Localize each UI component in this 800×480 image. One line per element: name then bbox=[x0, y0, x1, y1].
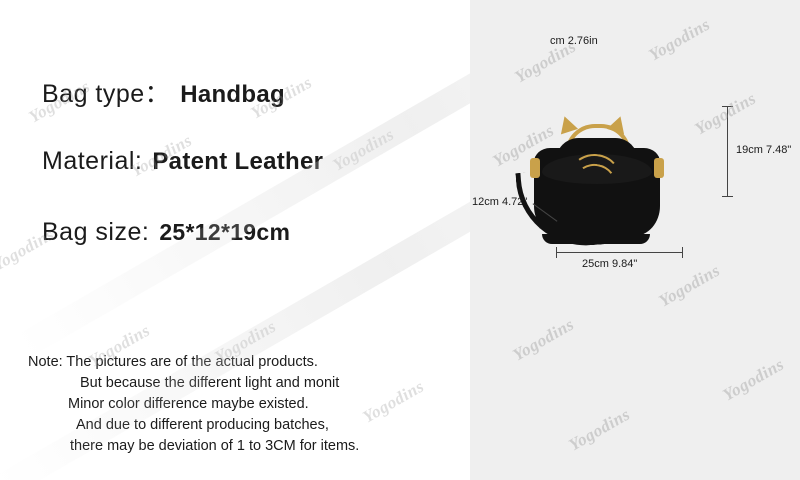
disclaimer-note: Note: The pictures are of the actual pro… bbox=[28, 352, 448, 457]
note-line-3: Minor color difference maybe existed. bbox=[28, 394, 448, 415]
dimension-width-tick-right bbox=[682, 247, 683, 258]
watermark: Yogodins bbox=[510, 315, 578, 366]
watermark: Yogodins bbox=[566, 405, 634, 456]
dimension-depth-label: 12cm 4.72" bbox=[472, 196, 527, 208]
watermark: Yogodins bbox=[720, 355, 788, 406]
dimension-top-label: cm 2.76in bbox=[550, 35, 598, 47]
side-hardware-right bbox=[654, 158, 664, 178]
spec-panel: Bag type：Handbag Material:Patent Leather… bbox=[0, 0, 470, 480]
side-hardware-left bbox=[530, 158, 540, 178]
watermark: Yogodins bbox=[656, 261, 724, 312]
dimension-width-label: 25cm 9.84" bbox=[582, 258, 637, 270]
spec-label-material: Material: bbox=[42, 147, 142, 175]
note-line-5: there may be deviation of 1 to 3CM for i… bbox=[28, 436, 448, 457]
bag-base bbox=[542, 234, 650, 244]
spec-label-bag-size: Bag size: bbox=[42, 218, 149, 246]
note-line-1: Note: The pictures are of the actual pro… bbox=[28, 352, 448, 373]
note-line-2: But because the different light and moni… bbox=[28, 373, 448, 394]
dimension-height-label: 19cm 7.48" bbox=[736, 144, 791, 156]
spec-label-bag-type: Bag type： bbox=[42, 80, 170, 108]
dimension-width-tick-left bbox=[556, 247, 557, 258]
dimension-height-tick-top bbox=[722, 106, 733, 107]
handbag-illustration bbox=[512, 110, 702, 260]
product-detail-page: Bag type：Handbag Material:Patent Leather… bbox=[0, 0, 800, 480]
spec-row-bag-size: Bag size:25*12*19cm bbox=[42, 218, 290, 247]
product-image-panel: cm 2.76in 19cm 7.48" 25cm 9.84" 12cm 4.7… bbox=[470, 0, 800, 480]
spec-value-material: Patent Leather bbox=[152, 148, 323, 175]
spec-value-bag-size: 25*12*19cm bbox=[159, 219, 290, 245]
watermark: Yogodins bbox=[646, 15, 714, 66]
spec-value-bag-type: Handbag bbox=[180, 81, 285, 108]
watermark: Yogodins bbox=[330, 125, 398, 176]
spec-row-material: Material:Patent Leather bbox=[42, 147, 323, 176]
dimension-width-line bbox=[556, 252, 683, 253]
dimension-height-tick-bottom bbox=[722, 196, 733, 197]
spec-row-bag-type: Bag type：Handbag bbox=[42, 74, 285, 110]
note-line-4: And due to different producing batches, bbox=[28, 415, 448, 436]
dimension-height-line bbox=[727, 106, 728, 196]
